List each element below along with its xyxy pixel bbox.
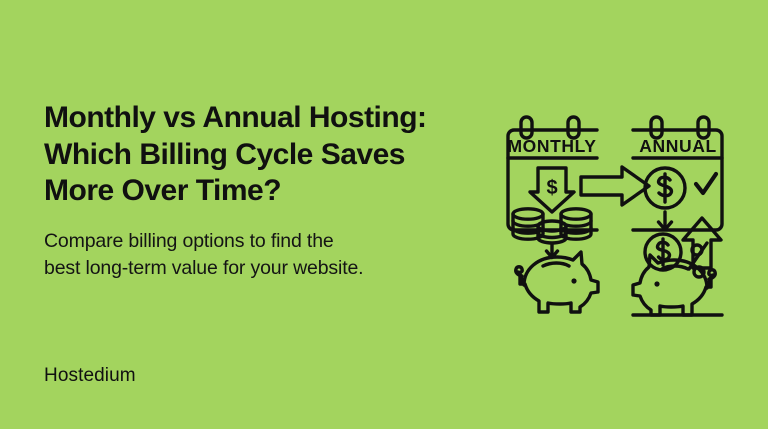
page-subtitle: Compare billing options to find the best… [44, 210, 474, 283]
monthly-dollar-symbol: $ [546, 177, 557, 199]
annual-down-arrow-icon [659, 212, 672, 230]
brand-name: Hostedium [44, 365, 136, 387]
growth-up-arrow-icon [683, 218, 721, 268]
monthly-vs-annual-billing-illustration: MONTHLY $ [500, 100, 730, 325]
annual-calendar-label: ANNUAL [639, 136, 716, 156]
connector-right-arrow-icon [581, 167, 649, 205]
monthly-piggy-bank-icon [516, 252, 598, 312]
coin-stacks-icon [513, 209, 591, 243]
promo-banner: Monthly vs Annual Hosting: Which Billing… [0, 0, 768, 429]
page-title: Monthly vs Annual Hosting: Which Billing… [44, 100, 474, 210]
hero-text-block: Monthly vs Annual Hosting: Which Billing… [44, 100, 474, 283]
monthly-calendar-label: MONTHLY [507, 136, 596, 156]
annual-checkmark-icon [696, 174, 716, 193]
annual-dollar-coin-icon [645, 168, 685, 208]
